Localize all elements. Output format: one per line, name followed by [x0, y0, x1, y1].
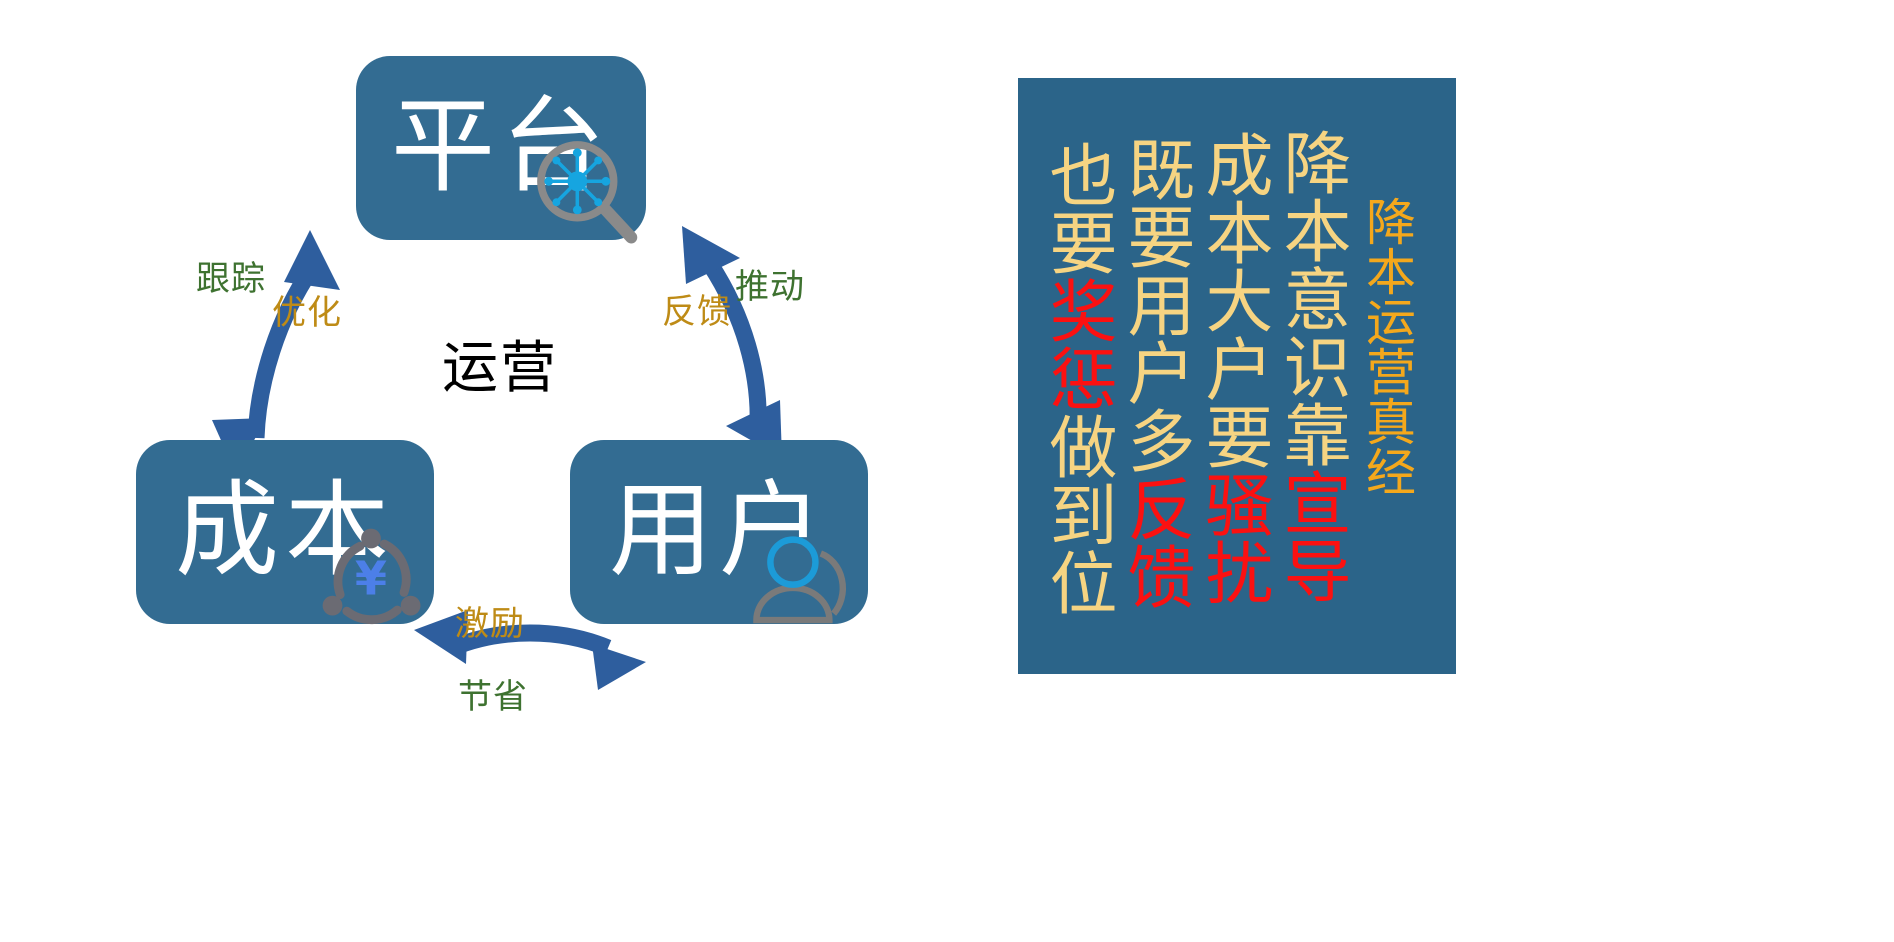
poster-column-2-highlight: 宣导 [1271, 468, 1350, 604]
poster-column-5-suffix: 做到位 [1037, 412, 1116, 616]
arrow-label-feedback: 反馈 [662, 293, 732, 331]
poster-text-columns: 也要奖惩做到位 既要用户多反馈 成本大户要骚扰 降本意识靠宣导 降本运营真经 [1018, 78, 1456, 674]
poster-column-4-highlight: 反馈 [1115, 474, 1194, 610]
node-platform-label: 平台 [356, 86, 646, 206]
center-caption: 运营 [0, 338, 1000, 400]
operations-cycle-diagram: 平台 [0, 0, 1190, 942]
arrow-label-incentive: 激励 [455, 605, 525, 643]
poster-column-5: 也要奖惩做到位 [1042, 140, 1110, 616]
poster-column-5-prefix: 也要 [1037, 140, 1116, 276]
arrow-label-track: 跟踪 [196, 260, 266, 298]
poster-column-2-prefix: 降本意识靠 [1271, 128, 1350, 468]
node-cost[interactable]: 成本 ¥ [136, 440, 434, 624]
poster-column-5-highlight: 奖惩 [1037, 276, 1116, 412]
node-user-label: 用户 [570, 470, 868, 590]
poster-column-3: 成本大户要骚扰 [1198, 130, 1266, 606]
poster-column-3-highlight: 骚扰 [1193, 470, 1272, 606]
node-platform[interactable]: 平台 [356, 56, 646, 240]
node-cost-label: 成本 [136, 470, 434, 590]
poster-column-3-prefix: 成本大户要 [1193, 130, 1272, 470]
node-user[interactable]: 用户 [570, 440, 868, 624]
poster-title: 降本运营真经 [1362, 196, 1412, 496]
poster-column-4-prefix: 既要用户多 [1115, 134, 1194, 474]
poster-column-4: 既要用户多反馈 [1120, 134, 1188, 610]
poster-panel: 也要奖惩做到位 既要用户多反馈 成本大户要骚扰 降本意识靠宣导 降本运营真经 [1018, 78, 1456, 674]
poster-column-2: 降本意识靠宣导 [1276, 128, 1344, 604]
arrow-label-save: 节省 [458, 678, 528, 716]
arrow-label-push: 推动 [735, 268, 805, 306]
arrow-label-optimize: 优化 [272, 294, 342, 332]
